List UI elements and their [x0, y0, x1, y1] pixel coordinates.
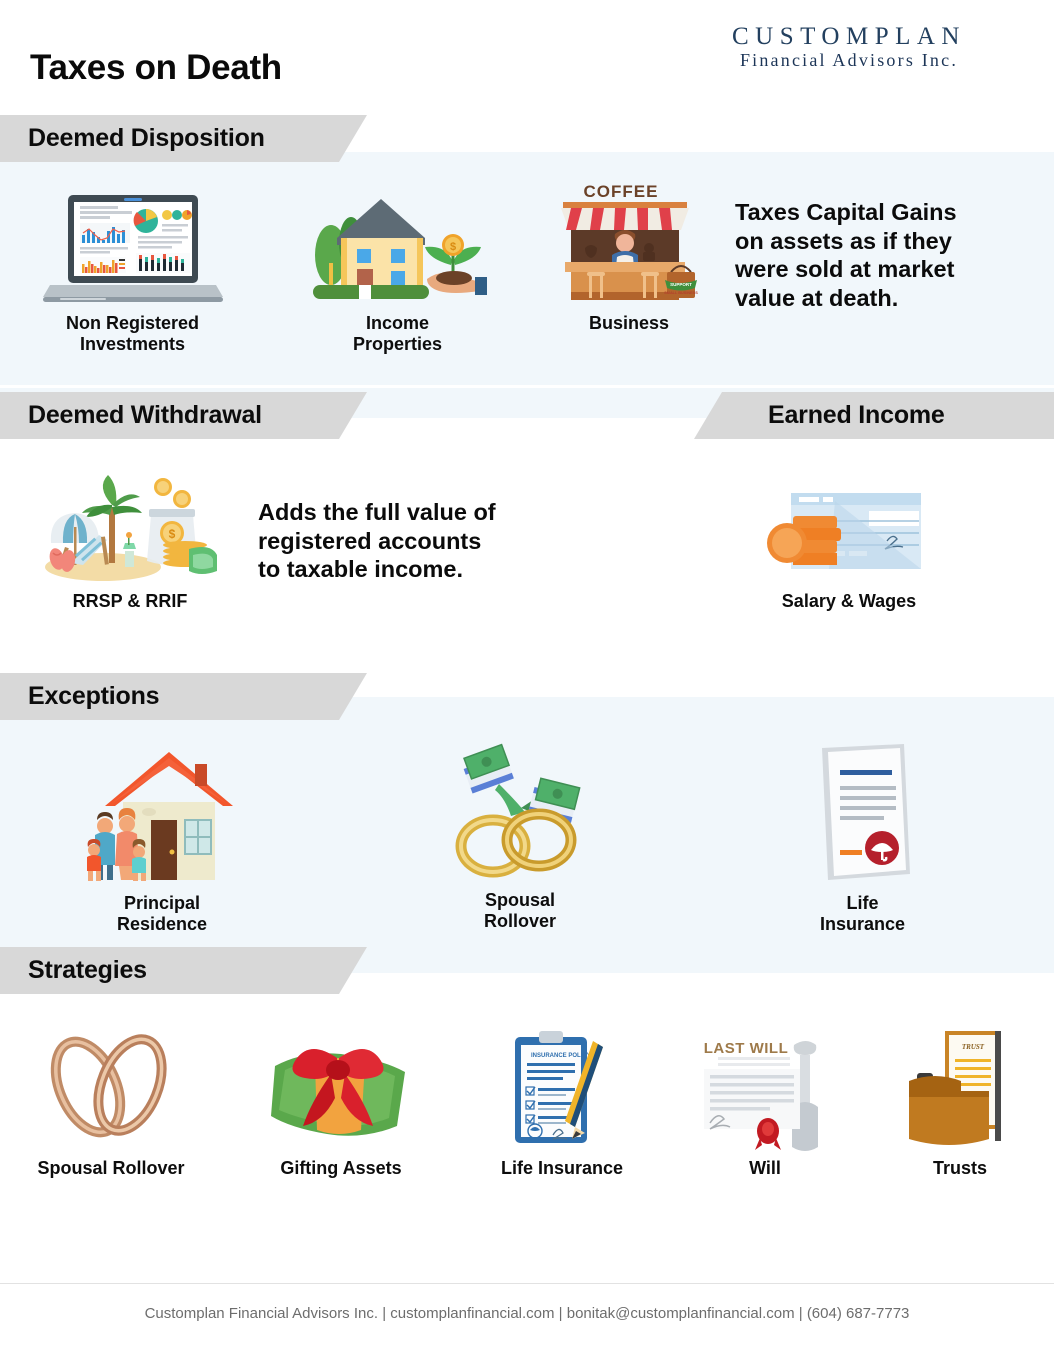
company-logo: CUSTOMPLAN Financial Advisors Inc.	[732, 24, 966, 71]
item-label: Life Insurance	[780, 893, 945, 934]
support-banner-text: SUPPORT	[670, 282, 692, 287]
tab-label: Deemed Withdrawal	[28, 401, 262, 430]
svg-text:$: $	[449, 241, 455, 253]
item-spousal-rollover-exception: Spousal Rollover	[430, 742, 610, 931]
section-tab-exceptions: Exceptions	[0, 673, 367, 720]
beach-savings-jar-icon: $	[40, 468, 220, 583]
tab-label: Deemed Disposition	[28, 124, 265, 153]
insurance-certificate-icon	[780, 740, 945, 885]
item-salary-wages: Salary & Wages	[760, 478, 938, 612]
item-life-insurance-exception: Life Insurance	[780, 740, 945, 934]
last-will-text: LAST WILL	[704, 1040, 788, 1057]
item-label: Gifting Assets	[255, 1158, 427, 1179]
item-principal-residence: Principal Residence	[72, 740, 252, 934]
tab-label: Earned Income	[768, 401, 945, 430]
callout-deemed-disposition: Taxes Capital Gains on assets as if they…	[735, 198, 1035, 313]
item-label: Life Insurance	[478, 1158, 646, 1179]
support-sub-text: SMALL BUSINESS	[664, 291, 698, 295]
logo-tagline: Financial Advisors Inc.	[732, 51, 966, 71]
item-rrsp-rrif: $ RRSP & RRIF	[40, 468, 220, 612]
item-trusts: TRUST Trusts	[890, 1025, 1030, 1179]
section-tab-earned-income: Earned Income	[694, 392, 1054, 439]
wedding-rings-money-icon	[430, 742, 610, 882]
cheque-coins-icon	[760, 478, 938, 583]
item-strategy-spousal-rollover: Spousal Rollover	[22, 1025, 200, 1179]
footer-divider	[0, 1283, 1054, 1284]
laptop-dashboard-icon	[35, 190, 230, 305]
item-label: Principal Residence	[72, 893, 252, 934]
tab-label: Exceptions	[28, 682, 159, 711]
item-label: RRSP & RRIF	[40, 591, 220, 612]
callout-deemed-withdrawal: Adds the full value of registered accoun…	[258, 498, 588, 584]
insurance-policy-text: INSURANCE POLICY	[531, 1053, 591, 1059]
item-non-registered-investments: Non Registered Investments	[35, 190, 230, 354]
section-tab-deemed-withdrawal: Deemed Withdrawal	[0, 392, 367, 439]
svg-text:$: $	[169, 527, 176, 541]
gift-money-icon	[255, 1030, 427, 1150]
logo-company-name: CUSTOMPLAN	[732, 24, 966, 50]
item-label: Spousal Rollover	[430, 890, 610, 931]
wedding-rings-icon	[22, 1025, 200, 1150]
item-label: Business	[540, 313, 718, 334]
item-label: Will	[690, 1158, 840, 1179]
family-house-icon	[72, 740, 252, 885]
item-gifting-assets: Gifting Assets	[255, 1030, 427, 1179]
last-will-document-icon: LAST WILL	[690, 1025, 840, 1150]
page-title: Taxes on Death	[30, 48, 282, 88]
item-label: Non Registered Investments	[35, 313, 230, 354]
trust-folder-icon: TRUST	[890, 1025, 1030, 1150]
item-income-properties: $ Income Properties	[300, 190, 495, 354]
item-label: Income Properties	[300, 313, 495, 354]
coffee-stand-business-icon: COFFEE	[540, 180, 718, 305]
infographic-page: Taxes on Death CUSTOMPLAN Financial Advi…	[0, 0, 1054, 1364]
footer-contact: Customplan Financial Advisors Inc. | cus…	[0, 1305, 1054, 1322]
item-label: Trusts	[890, 1158, 1030, 1179]
item-label: Spousal Rollover	[22, 1158, 200, 1179]
coffee-sign-text: COFFEE	[584, 182, 659, 201]
item-strategy-life-insurance: INSURANCE POLICY	[478, 1025, 646, 1179]
item-will: LAST WILL	[690, 1025, 840, 1179]
house-income-property-icon: $	[300, 190, 495, 305]
tab-label: Strategies	[28, 956, 147, 985]
insurance-policy-clipboard-icon: INSURANCE POLICY	[478, 1025, 646, 1150]
item-business: COFFEE	[540, 180, 718, 334]
item-label: Salary & Wages	[760, 591, 938, 612]
section-tab-strategies: Strategies	[0, 947, 367, 994]
section-tab-deemed-disposition: Deemed Disposition	[0, 115, 367, 162]
trust-text: TRUST	[962, 1043, 985, 1051]
